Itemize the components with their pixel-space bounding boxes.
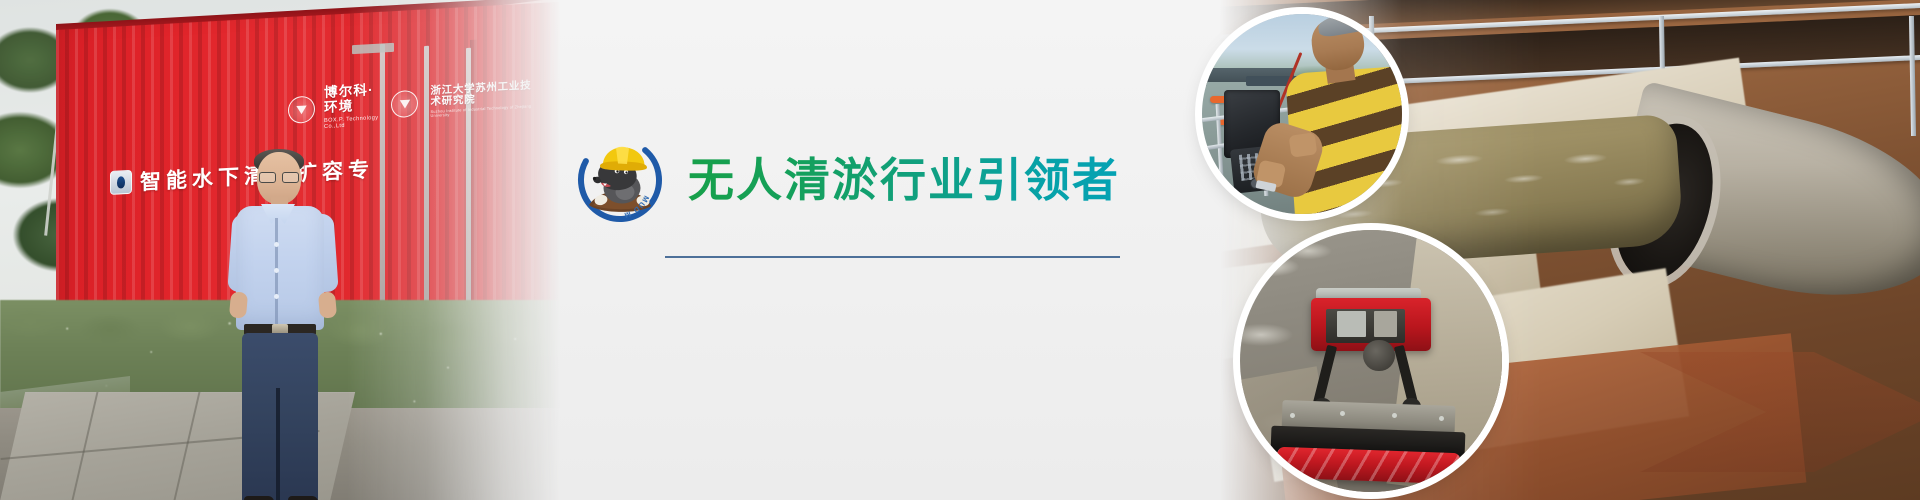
logo-wordmark-text: MUD MOLE (570, 230, 571, 231)
person-shoe (244, 496, 274, 500)
center-content: MUD MOLE MUD MOLE 无人清淤行业引领者 (560, 0, 1200, 500)
robot-panel (1374, 311, 1398, 337)
person-shirt-button (274, 268, 279, 273)
headline-divider (665, 256, 1120, 258)
person-shirt-button (274, 242, 279, 247)
person-hand-right (318, 291, 337, 318)
company-seal-icon (288, 95, 315, 124)
container-brand-block: 博尔科·环境 BOX.P. Technology Co.,Ltd (324, 83, 382, 129)
container-partner-block: 浙江大学苏州工业技术研究院 Suzhou Institute of Indust… (430, 80, 538, 119)
hero-banner: 博尔科·环境 BOX.P. Technology Co.,Ltd 浙江大学苏州工… (0, 0, 1920, 500)
person-jeans (242, 333, 318, 500)
left-photo-container-site: 博尔科·环境 BOX.P. Technology Co.,Ltd 浙江大学苏州工… (0, 0, 560, 500)
inset-photo-inner (1240, 230, 1502, 492)
slogan-badge-icon (110, 170, 132, 195)
person-glasses (259, 172, 299, 182)
person-shoe (288, 496, 318, 500)
robot-bolt (1340, 411, 1345, 416)
inset-photo-dredging-robot (1240, 230, 1502, 492)
headline-text: 无人清淤行业引领者 (688, 155, 1120, 206)
person-shirt-button (274, 294, 279, 299)
robot-panel (1337, 311, 1366, 337)
partner-seal-icon (391, 89, 418, 118)
headline-row: MUD MOLE MUD MOLE 无人清淤行业引领者 (560, 130, 1200, 230)
inset-photo-operator-console (1202, 14, 1402, 214)
container-brand-cn: 博尔科·环境 (324, 83, 382, 115)
person-jeans-seam (276, 388, 280, 500)
robot-motor (1363, 340, 1394, 371)
inset-photo-inner (1202, 14, 1402, 214)
photo-person (228, 152, 338, 500)
mud-mole-logo: MUD MOLE MUD MOLE (570, 130, 670, 230)
inset-operator-hand (1289, 132, 1318, 157)
right-photo-group (1180, 0, 1920, 500)
person-shirt (236, 206, 324, 330)
headline-block: MUD MOLE MUD MOLE 无人清淤行业引领者 (560, 130, 1200, 258)
